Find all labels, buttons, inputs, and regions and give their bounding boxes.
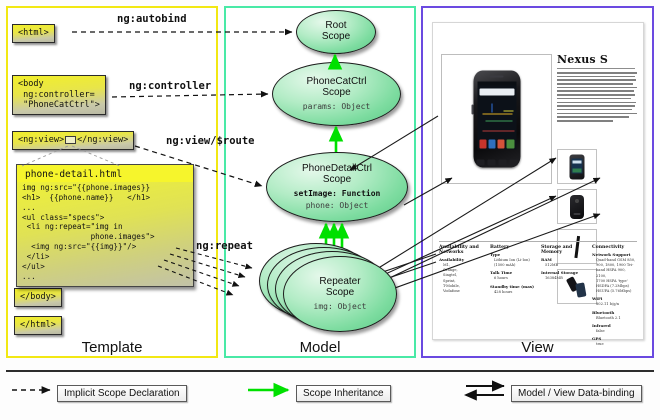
scope-phonecatctrl-line2: Scope: [322, 87, 350, 98]
legend-divider: [6, 370, 654, 372]
model-column-label: Model: [226, 340, 414, 357]
spec-values-1-1: 6 hours: [490, 276, 535, 281]
spec-heading-0: Availability and Networks: [439, 245, 484, 255]
scope-phonecatctrl-line1: PhoneCatCtrl: [306, 76, 366, 87]
scope-phonedetailctrl: PhoneDetailCtrl Scope setImage: Function…: [266, 152, 408, 222]
partial-filename: phone-detail.html: [17, 165, 193, 182]
spec-sub-3-3: Infrared: [592, 323, 637, 328]
phone-search-widget: [479, 89, 514, 96]
phone-hero-image-frame: [441, 54, 552, 184]
template-partial-note: phone-detail.html img ng:src="{{phone.im…: [16, 164, 194, 287]
label-ng-autobind: ng:autobind: [117, 13, 187, 25]
tag-html-open: <html>: [12, 24, 55, 43]
scope-phonecatctrl-prop: params: Object: [303, 102, 370, 111]
rendered-page: Nexus S: [432, 22, 644, 340]
title-divider: [557, 68, 635, 69]
scope-root: Root Scope: [296, 10, 376, 54]
spec-sub-3-4: GPS: [592, 336, 637, 341]
label-ng-repeat: ng:repeat: [196, 240, 253, 252]
spec-column-2: Storage and Memory RAM 512MB Internal St…: [541, 245, 586, 347]
spec-sub-1-2: Standby time (max): [490, 284, 535, 289]
scope-phonecatctrl: PhoneCatCtrl Scope params: Object: [272, 62, 401, 126]
tag-ngview-open-label: <ng:view>: [18, 135, 64, 145]
tag-body-close: </body>: [14, 288, 62, 307]
scope-repeater-line2: Scope: [326, 287, 354, 298]
spec-values-0-0: M1, Orange, Singtel, Sprint, T-Mobile, V…: [439, 263, 484, 294]
phone-wallpaper: [479, 98, 514, 134]
spec-values-3-0: Quad-band GSM 850, 900, 1800, 1900 Tri- …: [592, 258, 637, 294]
spec-heading-1: Battery: [490, 245, 535, 250]
spec-heading-3: Connectivity: [592, 245, 637, 250]
phone-device-illustration: [473, 71, 520, 168]
scope-repeater: Repeater Scope img: Object: [283, 256, 397, 332]
legend-label-databinding: Model / View Data-binding: [511, 385, 642, 402]
spec-column-3: Connectivity Network Support Quad-band G…: [592, 245, 637, 347]
scope-root-line1: Root: [325, 20, 346, 31]
scope-repeater-prop: img: Object: [314, 302, 367, 311]
specs-divider: [439, 241, 637, 242]
tag-html-close: </html>: [14, 316, 62, 335]
scope-root-line2: Scope: [322, 31, 350, 42]
legend-label-inheritance: Scope Inheritance: [296, 385, 391, 402]
spec-sub-1-0: Type: [490, 252, 535, 257]
partial-code: img ng:src="{{phone.images}} <h1> {{phon…: [17, 182, 193, 286]
phone-side-button: [472, 105, 474, 115]
spec-sub-1-1: Talk Time: [490, 270, 535, 275]
spec-sub-3-2: Bluetooth: [592, 310, 637, 315]
tag-ngview: <ng:view></ng:view>: [12, 131, 134, 150]
legend-label-implicit: Implicit Scope Declaration: [57, 385, 187, 402]
phone-speaker: [490, 76, 504, 78]
tag-body-open: <body ng:controller= "PhoneCatCtrl">: [12, 75, 106, 115]
spec-values-2-0: 512MB: [541, 263, 586, 268]
thumbnail-2[interactable]: [557, 189, 597, 224]
spec-values-2-1: 16384MB: [541, 276, 586, 281]
spec-sub-3-0: Network Support: [592, 252, 637, 257]
scope-phonedetailctrl-prop-setimage: setImage: Function: [294, 189, 381, 198]
label-ng-view-route: ng:view/$route: [166, 135, 255, 147]
spec-values-1-0: Lithium Ion (Li-Ion) (1500 mAh): [490, 258, 535, 268]
spec-values-1-2: 428 hours: [490, 290, 535, 295]
phone-app-dock: [479, 135, 514, 149]
tag-ngview-close-label: </ng:view>: [77, 135, 128, 145]
scope-repeater-line1: Repeater: [319, 276, 360, 287]
ngview-placeholder-icon: [65, 136, 76, 144]
spec-values-3-3: false: [592, 329, 637, 334]
spec-sub-0-0: Availability: [439, 257, 484, 262]
spec-column-1: Battery Type Lithium Ion (Li-Ion) (1500 …: [490, 245, 535, 347]
scope-phonedetailctrl-line1: PhoneDetailCtrl: [302, 163, 372, 174]
phone-screen: [477, 82, 516, 150]
template-column-label: Template: [8, 340, 216, 357]
diagram-canvas: Template <html> <body ng:controller= "Ph…: [0, 0, 660, 420]
page-title: Nexus S: [557, 53, 608, 66]
spec-values-3-1: 802.11 b/g/n: [592, 302, 637, 307]
spec-column-0: Availability and Networks Availability M…: [439, 245, 484, 347]
spec-heading-2: Storage and Memory: [541, 245, 586, 255]
spec-sub-3-1: WiFi: [592, 296, 637, 301]
thumbnail-1[interactable]: [557, 149, 597, 184]
spec-sub-2-1: Internal Storage: [541, 270, 586, 275]
page-description-text: [557, 72, 637, 124]
scope-phonedetailctrl-prop-phone: phone: Object: [306, 201, 369, 210]
phone-nav-buttons: [476, 160, 517, 166]
spec-values-3-4: true: [592, 342, 637, 347]
phone-statusbar: [477, 82, 516, 86]
scope-phonedetailctrl-line2: Scope: [323, 174, 351, 185]
label-ng-controller: ng:controller: [129, 80, 211, 92]
specs-table: Availability and Networks Availability M…: [439, 245, 637, 347]
spec-sub-2-0: RAM: [541, 257, 586, 262]
spec-values-3-2: Bluetooth 2.1: [592, 316, 637, 321]
